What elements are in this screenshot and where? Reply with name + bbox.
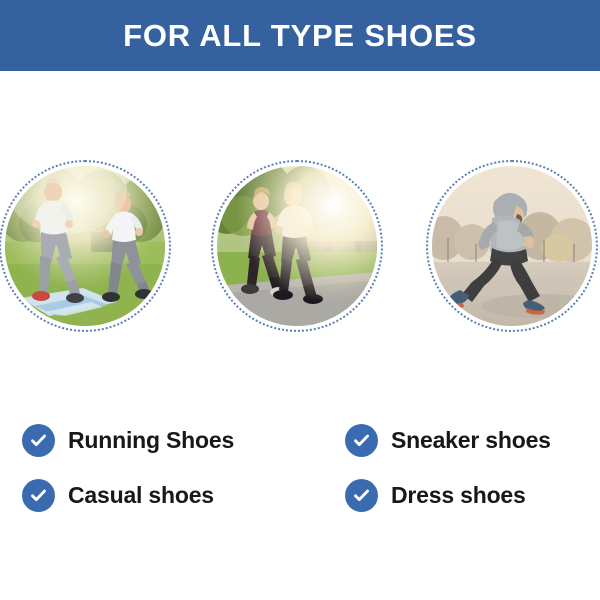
photo-circle-2 (211, 160, 383, 332)
header-banner: FOR ALL TYPE SHOES (0, 0, 600, 71)
check-icon (345, 479, 378, 512)
check-icon (22, 424, 55, 457)
checklist-item-casual-shoes: Casual shoes (22, 475, 214, 515)
photo-circle-row (0, 160, 600, 332)
checklist-item-label: Sneaker shoes (391, 429, 551, 452)
checklist-item-running-shoes: Running Shoes (22, 420, 234, 460)
page-title: FOR ALL TYPE SHOES (123, 20, 477, 51)
checklist-item-label: Casual shoes (68, 484, 214, 507)
checklist-item-dress-shoes: Dress shoes (345, 475, 526, 515)
shoe-type-checklist: Running Shoes Casual shoes Sneaker shoes (0, 415, 600, 525)
photo-dotted-ring (0, 160, 171, 332)
photo-dotted-ring (211, 160, 383, 332)
checklist-item-label: Dress shoes (391, 484, 526, 507)
photo-circle-3 (426, 160, 598, 332)
check-icon (22, 479, 55, 512)
check-icon (345, 424, 378, 457)
checklist-item-sneaker-shoes: Sneaker shoes (345, 420, 551, 460)
photo-dotted-ring (426, 160, 598, 332)
promo-graphic: FOR ALL TYPE SHOES (0, 0, 600, 600)
photo-circle-1 (0, 160, 171, 332)
checklist-item-label: Running Shoes (68, 429, 234, 452)
